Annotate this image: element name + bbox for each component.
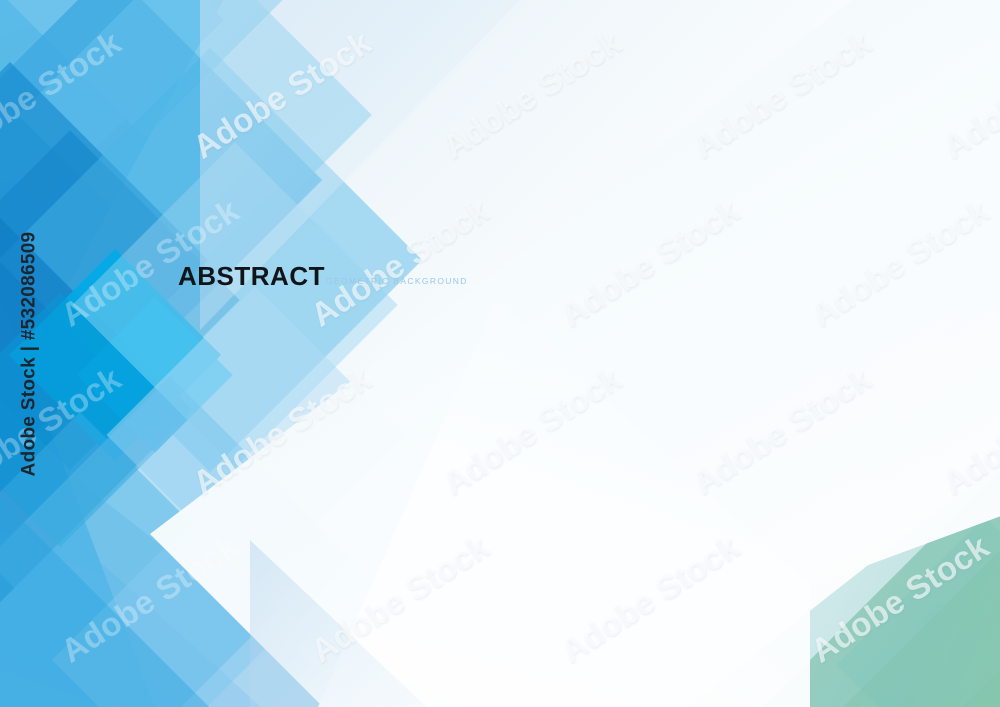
page-title: ABSTRACT — [178, 263, 325, 289]
page-subtitle: GEOMETRIC BACKGROUND — [326, 277, 468, 286]
abstract-geometric-background: Adobe StockAdobe StockAdobe StockAdobe S… — [0, 0, 1000, 707]
headline-block: ABSTRACT GEOMETRIC BACKGROUND — [178, 263, 468, 289]
